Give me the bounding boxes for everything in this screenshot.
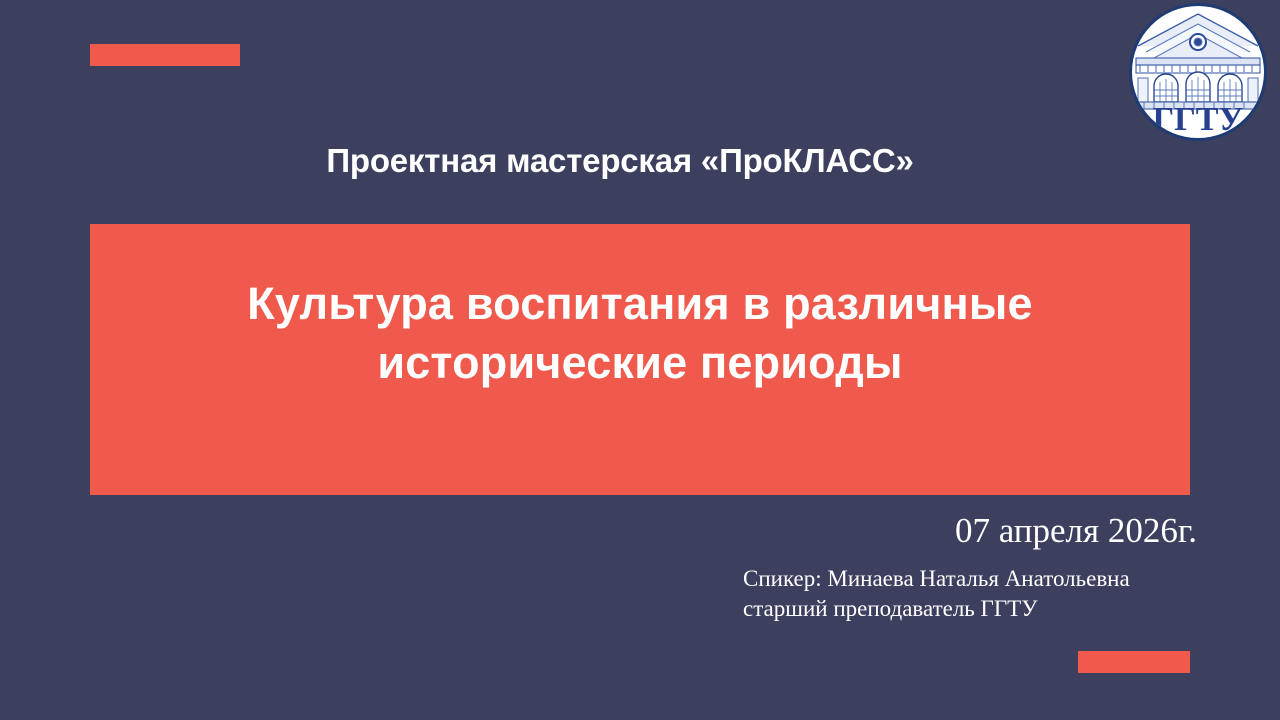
presentation-date: 07 апреля 2026г.: [955, 511, 1197, 551]
workshop-title: Проектная мастерская «ПроКЛАСС»: [0, 142, 1240, 181]
title-banner: Культура воспитания в различные историче…: [90, 224, 1190, 495]
presentation-title: Культура воспитания в различные историче…: [90, 274, 1190, 393]
speaker-name-line: Спикер: Минаева Наталья Анатольевна: [743, 564, 1213, 594]
speaker-block: Спикер: Минаева Наталья Анатольевна стар…: [743, 564, 1213, 624]
accent-bar-top-left: [90, 44, 240, 66]
university-logo: ГГТУ: [1128, 2, 1268, 142]
presentation-slide: ГГТУ Проектная мастерская «ПроКЛАСС» Кул…: [0, 0, 1280, 720]
accent-bar-bottom-right: [1078, 651, 1190, 673]
university-seal-icon: ГГТУ: [1128, 2, 1268, 142]
speaker-position-line: старший преподаватель ГГТУ: [743, 594, 1213, 624]
